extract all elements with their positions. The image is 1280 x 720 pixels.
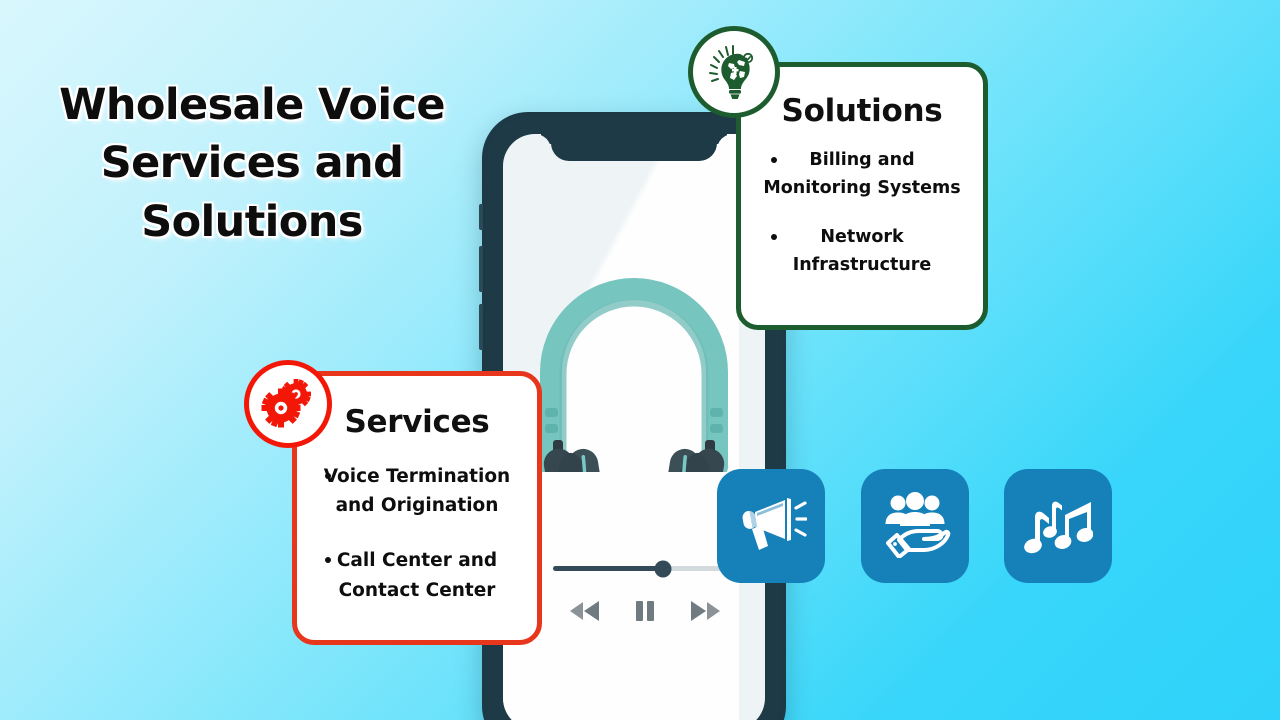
list-item-label: Voice Termination and Origination	[324, 466, 510, 516]
list-item-label: Billing and Monitoring Systems	[763, 150, 960, 198]
progress-bar-fill	[553, 566, 663, 571]
progress-bar[interactable]	[553, 566, 737, 571]
music-notes-icon	[1023, 489, 1093, 563]
list-item-label: Network Infrastructure	[793, 227, 932, 275]
list-item: Voice Termination and Origination	[311, 462, 523, 520]
tile-customer-support[interactable]	[861, 469, 969, 583]
transport-controls	[553, 599, 737, 623]
bullet-icon	[771, 157, 777, 163]
phone-volume-up-button[interactable]	[479, 246, 483, 292]
pause-icon[interactable]	[634, 599, 656, 623]
slide-canvas: Wholesale Voice Services and Solutions	[0, 0, 1280, 720]
list-item: Network Infrastructure	[755, 224, 969, 279]
phone-screen	[503, 134, 765, 720]
gears-icon	[244, 360, 332, 448]
services-card-list: Voice Termination and Origination Call C…	[297, 462, 537, 605]
megaphone-icon	[735, 490, 807, 562]
solutions-card-list: Billing and Monitoring Systems Network I…	[741, 147, 983, 280]
phone-notch	[551, 134, 717, 161]
list-item: Call Center and Contact Center	[311, 546, 523, 604]
rewind-icon[interactable]	[568, 599, 602, 623]
phone-silent-switch[interactable]	[479, 204, 483, 230]
list-item: Billing and Monitoring Systems	[755, 147, 969, 202]
list-item-label: Call Center and Contact Center	[337, 550, 497, 600]
solutions-card-title: Solutions	[741, 93, 983, 129]
bullet-icon	[325, 473, 331, 479]
services-card-title: Services	[297, 404, 537, 440]
fast-forward-icon[interactable]	[688, 599, 722, 623]
customer-support-icon	[879, 490, 951, 562]
solutions-card[interactable]: Solutions Billing and Monitoring Systems…	[736, 62, 988, 330]
lightbulb-globe-icon	[688, 26, 780, 118]
phone-volume-down-button[interactable]	[479, 304, 483, 350]
headphones-illustration	[539, 262, 729, 472]
tile-music[interactable]	[1004, 469, 1112, 583]
audio-player-controls	[553, 566, 737, 623]
bullet-icon	[325, 557, 331, 563]
page-title: Wholesale Voice Services and Solutions	[52, 76, 452, 251]
tile-marketing[interactable]	[717, 469, 825, 583]
progress-bar-handle[interactable]	[655, 560, 672, 577]
bullet-icon	[771, 234, 777, 240]
